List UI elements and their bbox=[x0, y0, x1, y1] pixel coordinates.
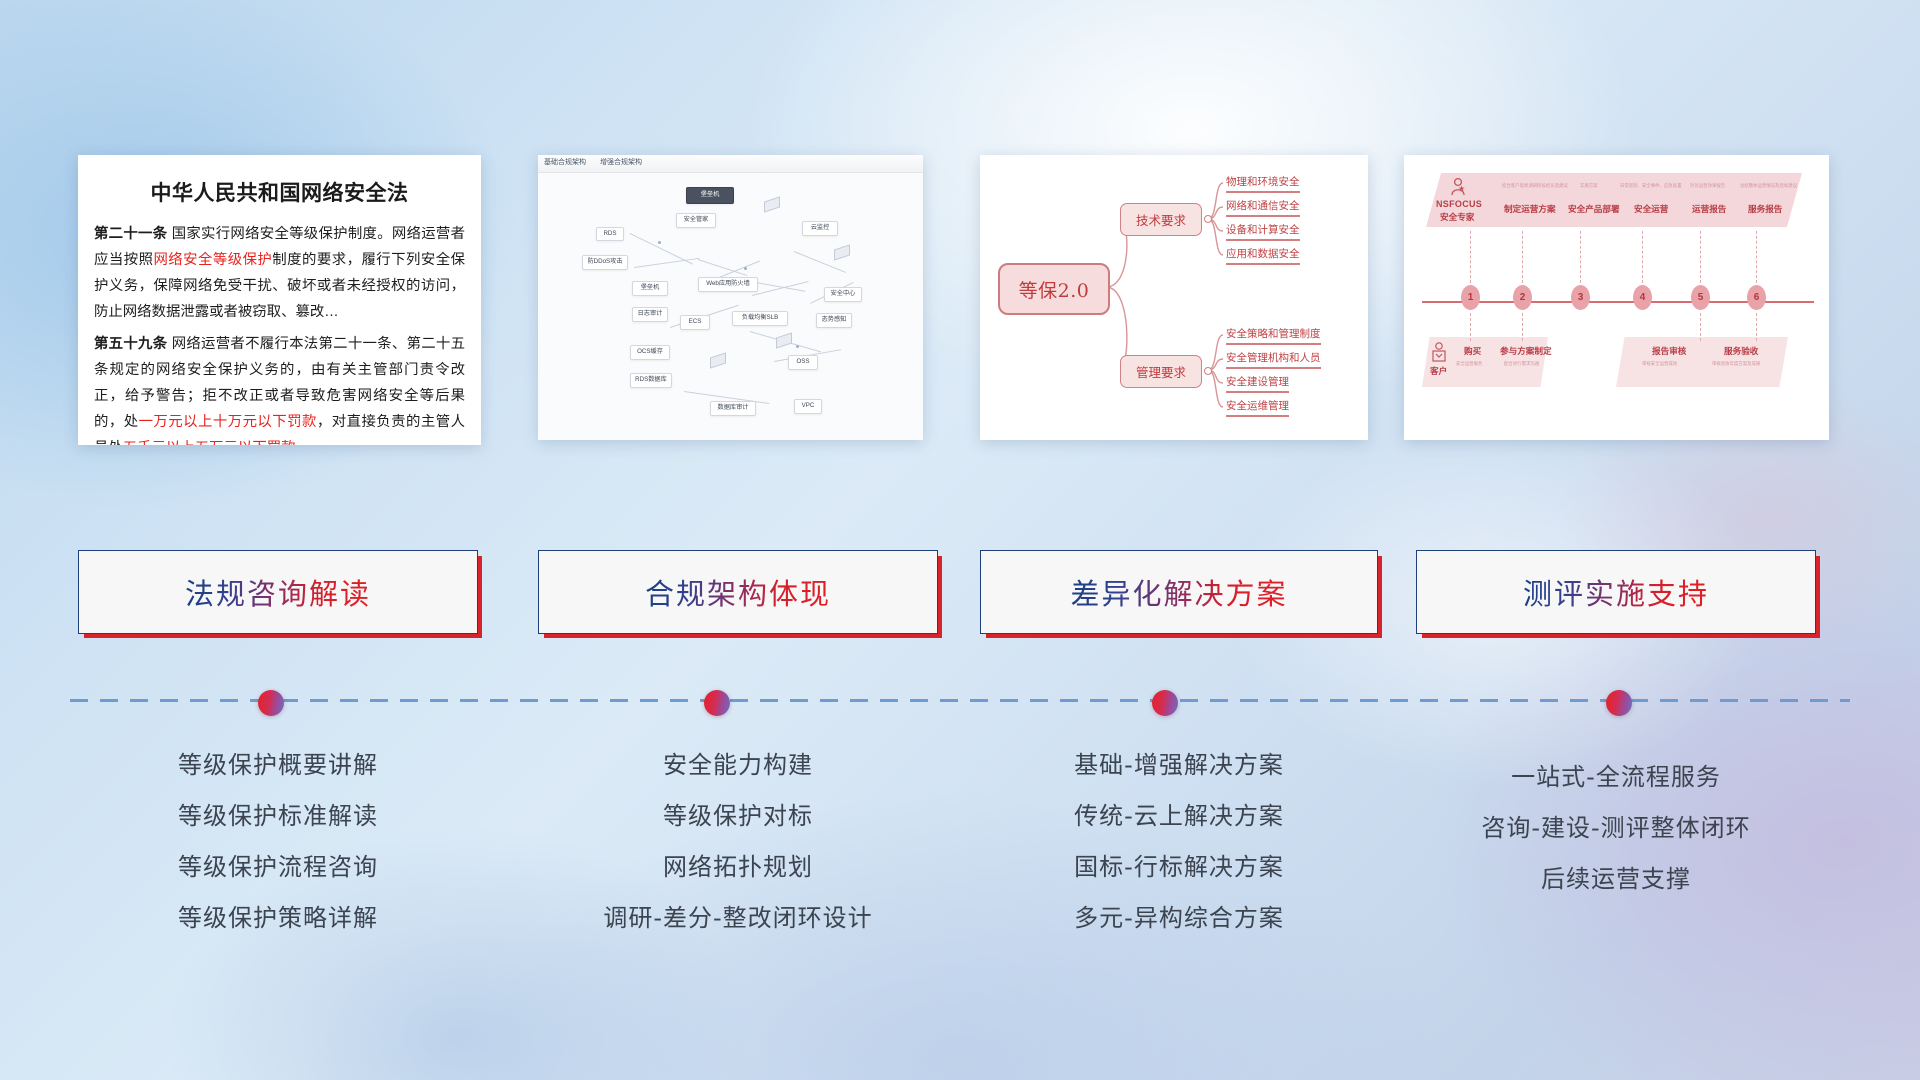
roadmap-customer-label: 客户 bbox=[1430, 365, 1447, 377]
roadmap-bottom-title-2: 参与方案制定 bbox=[1500, 345, 1552, 357]
list-item: 等级保护流程咨询 bbox=[78, 842, 478, 893]
category-button-evaluation-support[interactable]: 测评实施支持 bbox=[1416, 550, 1816, 634]
roadmap-top-title-4: 运营报告 bbox=[1692, 203, 1726, 215]
customer-person-icon bbox=[1430, 341, 1448, 363]
category-button-compliance-architecture[interactable]: 合规架构体现 bbox=[538, 550, 938, 634]
roadmap-node-1[interactable]: 1 bbox=[1461, 285, 1480, 310]
mindmap-diagram: 等保2.0 技术要求 物理和环境安全 网络和通信安全 设备和计算安全 应用和数据… bbox=[980, 155, 1368, 440]
arch-cube-icon bbox=[764, 199, 780, 210]
roadmap-tick bbox=[1580, 231, 1581, 283]
category-button-label: 差异化解决方案 bbox=[1070, 571, 1287, 613]
category-button-label: 法规咨询解读 bbox=[185, 571, 371, 613]
mindmap-leaf-physical: 物理和环境安全 bbox=[1226, 174, 1300, 193]
arch-tab-basic[interactable]: 基础合规架构 bbox=[544, 157, 586, 167]
roadmap-tick bbox=[1522, 231, 1523, 283]
roadmap-tick bbox=[1470, 313, 1471, 341]
list-item: 等级保护概要讲解 bbox=[78, 740, 478, 791]
law-title: 中华人民共和国网络安全法 bbox=[94, 177, 465, 207]
list-item: 安全能力构建 bbox=[538, 740, 938, 791]
arch-node-situational[interactable]: 态势感知 bbox=[816, 313, 852, 328]
roadmap-node-3[interactable]: 3 bbox=[1571, 285, 1590, 310]
law-paragraph-59: 第五十九条 网络运营者不履行本法第二十一条、第二十五条规定的网络安全保护义务的，… bbox=[94, 331, 465, 445]
detail-list-differentiated-solution: 基础-增强解决方案 传统-云上解决方案 国标-行标解决方案 多元-异构综合方案 bbox=[980, 740, 1378, 944]
arch-node-waf[interactable]: Web应用防火墙 bbox=[698, 277, 758, 292]
category-button-differentiated-solution[interactable]: 差异化解决方案 bbox=[980, 550, 1378, 634]
mindmap-leaf-policy: 安全策略和管理制度 bbox=[1226, 326, 1321, 345]
roadmap-bottom-sub-1: 安全运营服务 bbox=[1456, 361, 1482, 367]
roadmap-bottom-title-1: 购买 bbox=[1464, 345, 1481, 357]
expert-person-icon bbox=[1448, 177, 1468, 197]
timeline-dashed-line bbox=[70, 699, 1850, 702]
roadmap-tick bbox=[1756, 231, 1757, 283]
law-text-card[interactable]: 中华人民共和国网络安全法 第二十一条 国家实行网络安全等级保护制度。网络运营者应… bbox=[78, 155, 481, 445]
roadmap-tick bbox=[1642, 231, 1643, 283]
roadmap-node-5[interactable]: 5 bbox=[1691, 285, 1710, 310]
illustration-card-row: 中华人民共和国网络安全法 第二十一条 国家实行网络安全等级保护制度。网络运营者应… bbox=[0, 0, 1920, 430]
mindmap-branch-management[interactable]: 管理要求 bbox=[1120, 355, 1202, 388]
arch-node-ddos[interactable]: 防DDoS攻击 bbox=[582, 255, 628, 270]
roadmap-tick bbox=[1700, 231, 1701, 283]
roadmap-top-sub-1: 结合客户现状调研阶段结论及建议 bbox=[1502, 183, 1568, 189]
law-article-number-59: 第五十九条 bbox=[94, 336, 167, 352]
architecture-diagram: 基础合规架构 增强合规架构 堡垒机 安全管家 RDS 防DDoS攻击 堡垒机 日… bbox=[538, 155, 923, 440]
arch-node-security-butler[interactable]: 安全管家 bbox=[676, 213, 716, 228]
roadmap-top-sub-5: 总结整体运营情况及后续建议 bbox=[1740, 183, 1797, 189]
arch-tab-enhanced[interactable]: 增强合规架构 bbox=[600, 157, 642, 167]
timeline-dot-3[interactable] bbox=[1152, 690, 1178, 716]
category-button-regulation-consulting[interactable]: 法规咨询解读 bbox=[78, 550, 478, 634]
roadmap-diagram: NSFOCUS 安全专家 结合客户现状调研阶段结论及建议 制定运营方案 实施方案… bbox=[1404, 155, 1829, 440]
arch-node-bastion[interactable]: 堡垒机 bbox=[632, 281, 668, 296]
law-seg-b2-highlight: 一万元以上十万元以下罚款 bbox=[139, 414, 317, 430]
architecture-tabbar: 基础合规架构 增强合规架构 bbox=[538, 155, 923, 173]
roadmap-top-band bbox=[1426, 173, 1802, 227]
cloud-architecture-card[interactable]: 基础合规架构 增强合规架构 堡垒机 安全管家 RDS 防DDoS攻击 堡垒机 日… bbox=[538, 155, 923, 440]
mindmap-leaf-org: 安全管理机构和人员 bbox=[1226, 350, 1321, 369]
roadmap-top-title-3: 安全运营 bbox=[1634, 203, 1668, 215]
arch-node-db-audit[interactable]: 数据库审计 bbox=[710, 401, 756, 416]
roadmap-node-2[interactable]: 2 bbox=[1513, 285, 1532, 310]
roadmap-brand-sub: 安全专家 bbox=[1440, 211, 1474, 223]
arch-cube-icon bbox=[776, 335, 792, 346]
arch-node-log-audit[interactable]: 日志审计 bbox=[632, 307, 668, 322]
roadmap-bottom-sub-4: 审核验收年度方案及成果 bbox=[1712, 361, 1760, 367]
list-item: 基础-增强解决方案 bbox=[980, 740, 1378, 791]
arch-node-bastion-dark[interactable]: 堡垒机 bbox=[686, 187, 734, 204]
roadmap-top-sub-4: 针对运营效果报告 bbox=[1690, 183, 1725, 189]
detail-list-evaluation-support: 一站式-全流程服务 咨询-建设-测评整体闭环 后续运营支撑 bbox=[1416, 752, 1816, 905]
category-button-label: 合规架构体现 bbox=[645, 571, 831, 613]
mindmap-collapse-icon[interactable] bbox=[1204, 215, 1212, 223]
category-button-label: 测评实施支持 bbox=[1523, 571, 1709, 613]
arch-cube-icon bbox=[710, 355, 726, 366]
roadmap-bottom-sub-3: 审核安全运营成效 bbox=[1642, 361, 1677, 367]
roadmap-top-title-2: 安全产品部署 bbox=[1568, 203, 1620, 215]
roadmap-node-6[interactable]: 6 bbox=[1747, 285, 1766, 310]
arch-dot bbox=[658, 241, 661, 244]
detail-list-compliance-architecture: 安全能力构建 等级保护对标 网络拓扑规划 调研-差分-整改闭环设计 bbox=[538, 740, 938, 944]
arch-dot bbox=[796, 345, 799, 348]
mindmap-leaf-application: 应用和数据安全 bbox=[1226, 246, 1300, 265]
mindmap-root-node[interactable]: 等保2.0 bbox=[998, 263, 1110, 315]
mindmap-card[interactable]: 等保2.0 技术要求 物理和环境安全 网络和通信安全 设备和计算安全 应用和数据… bbox=[980, 155, 1368, 440]
timeline-dot-4[interactable] bbox=[1606, 690, 1632, 716]
list-item: 等级保护对标 bbox=[538, 791, 938, 842]
mindmap-leaf-operation: 安全运维管理 bbox=[1226, 398, 1289, 417]
roadmap-brand: NSFOCUS bbox=[1436, 199, 1482, 209]
roadmap-tick bbox=[1700, 313, 1701, 341]
list-item: 调研-差分-整改闭环设计 bbox=[538, 893, 938, 944]
roadmap-node-4[interactable]: 4 bbox=[1633, 285, 1652, 310]
roadmap-bottom-sub-2: 配合进行需求沟通 bbox=[1504, 361, 1539, 367]
law-paragraph-21: 第二十一条 国家实行网络安全等级保护制度。网络运营者应当按照网络安全等级保护制度… bbox=[94, 221, 465, 325]
arch-node-rds-db[interactable]: RDS数据库 bbox=[630, 373, 672, 388]
roadmap-card[interactable]: NSFOCUS 安全专家 结合客户现状调研阶段结论及建议 制定运营方案 实施方案… bbox=[1404, 155, 1829, 440]
law-body: 中华人民共和国网络安全法 第二十一条 国家实行网络安全等级保护制度。网络运营者应… bbox=[78, 155, 481, 445]
detail-list-row: 等级保护概要讲解 等级保护标准解读 等级保护流程咨询 等级保护策略详解 安全能力… bbox=[0, 740, 1920, 1000]
list-item: 国标-行标解决方案 bbox=[980, 842, 1378, 893]
roadmap-top-sub-3: 日常巡检、安全事件、应急处置 bbox=[1620, 183, 1681, 189]
list-item: 传统-云上解决方案 bbox=[980, 791, 1378, 842]
mindmap-leaf-device: 设备和计算安全 bbox=[1226, 222, 1300, 241]
arch-node-security-center[interactable]: 安全中心 bbox=[824, 287, 862, 302]
arch-node-ocs[interactable]: OCS缓存 bbox=[630, 345, 670, 360]
law-seg-a2-highlight: 网络安全等级保护 bbox=[153, 252, 272, 268]
list-item: 咨询-建设-测评整体闭环 bbox=[1416, 803, 1816, 854]
roadmap-top-title-1: 制定运营方案 bbox=[1504, 203, 1556, 215]
list-item: 后续运营支撑 bbox=[1416, 854, 1816, 905]
arch-cube-icon bbox=[834, 247, 850, 258]
roadmap-tick bbox=[1470, 231, 1471, 283]
arch-node-cloud-monitor[interactable]: 云监控 bbox=[802, 221, 838, 236]
roadmap-tick bbox=[1756, 313, 1757, 341]
mindmap-branch-technical[interactable]: 技术要求 bbox=[1120, 203, 1202, 236]
arch-node-ecs[interactable]: ECS bbox=[680, 315, 710, 330]
timeline-dot-2[interactable] bbox=[704, 690, 730, 716]
roadmap-bottom-title-4: 服务验收 bbox=[1724, 345, 1758, 357]
timeline-dot-1[interactable] bbox=[258, 690, 284, 716]
detail-list-regulation-consulting: 等级保护概要讲解 等级保护标准解读 等级保护流程咨询 等级保护策略详解 bbox=[78, 740, 478, 944]
arch-node-slb[interactable]: 负载均衡SLB bbox=[732, 311, 788, 326]
arch-dot bbox=[744, 267, 747, 270]
arch-node-vpc[interactable]: VPC bbox=[794, 399, 822, 414]
list-item: 网络拓扑规划 bbox=[538, 842, 938, 893]
law-article-number-21: 第二十一条 bbox=[94, 226, 167, 242]
timeline-track bbox=[0, 690, 1920, 710]
mindmap-collapse-icon[interactable] bbox=[1204, 367, 1212, 375]
roadmap-tick bbox=[1522, 313, 1523, 341]
list-item: 等级保护标准解读 bbox=[78, 791, 478, 842]
arch-node-oss[interactable]: OSS bbox=[788, 355, 818, 370]
roadmap-bottom-title-3: 报告审核 bbox=[1652, 345, 1686, 357]
mindmap-leaf-network: 网络和通信安全 bbox=[1226, 198, 1300, 217]
roadmap-top-title-5: 服务报告 bbox=[1748, 203, 1782, 215]
arch-node-rds[interactable]: RDS bbox=[596, 227, 624, 241]
roadmap-top-sub-2: 实施方案 bbox=[1580, 183, 1598, 189]
list-item: 多元-异构综合方案 bbox=[980, 893, 1378, 944]
list-item: 一站式-全流程服务 bbox=[1416, 752, 1816, 803]
law-seg-b4-highlight: 五千元以上五万元以下罚款。 bbox=[123, 440, 310, 445]
list-item: 等级保护策略详解 bbox=[78, 893, 478, 944]
mindmap-leaf-construct: 安全建设管理 bbox=[1226, 374, 1289, 393]
